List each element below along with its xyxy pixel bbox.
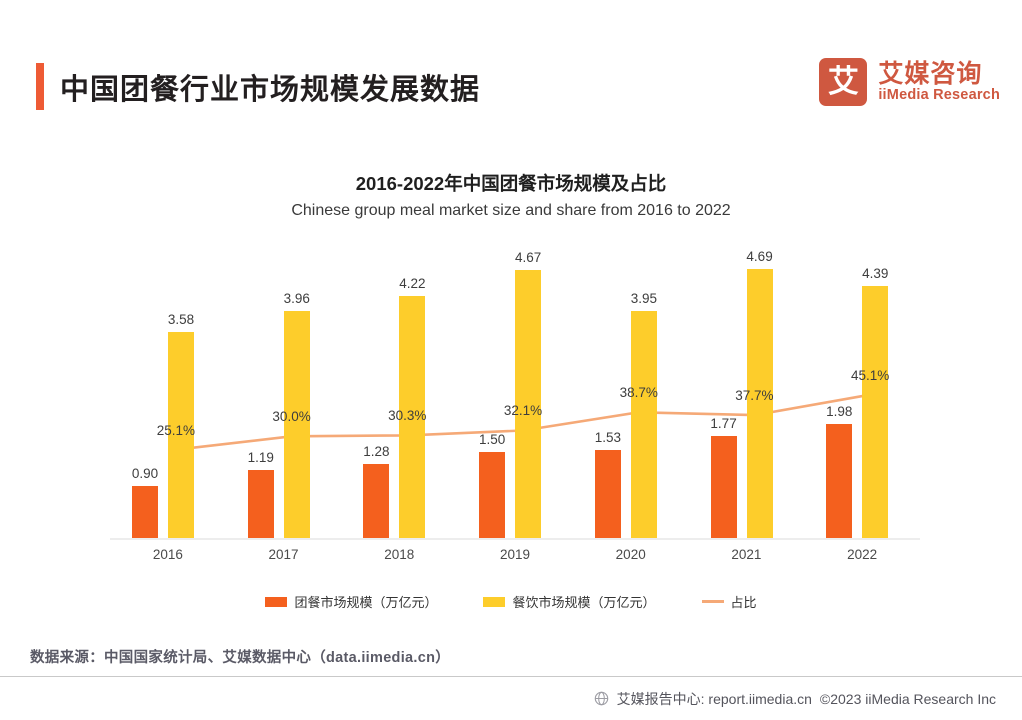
x-axis-tick-label: 2019 <box>457 547 573 562</box>
bar-value-label: 3.95 <box>631 291 657 306</box>
brand-name-en: iiMedia Research <box>878 88 1000 104</box>
bar-value-label: 1.19 <box>248 450 274 465</box>
legend-line-share <box>702 600 724 603</box>
share-value-label: 37.7% <box>735 388 773 403</box>
bar-value-label: 1.28 <box>363 444 389 459</box>
footer-bar: 艾媒报告中心: report.iimedia.cn ©2023 iiMedia … <box>0 677 1022 720</box>
brand-mark-icon: 艾 <box>819 58 867 106</box>
chart-title: 2016-2022年中国团餐市场规模及占比 <box>0 170 1022 196</box>
chart-subtitle: Chinese group meal market size and share… <box>0 202 1022 220</box>
bar-group-meal[interactable] <box>479 452 505 538</box>
brand-name-cn: 艾媒咨询 <box>878 61 1000 88</box>
bar-value-label: 0.90 <box>132 466 158 481</box>
legend-item-catering[interactable]: 餐饮市场规模（万亿元） <box>483 592 655 611</box>
bar-group: 1.504.672019 <box>457 245 573 538</box>
bar-catering[interactable] <box>631 311 657 538</box>
bar-value-label: 4.39 <box>862 266 888 281</box>
bar-group-meal[interactable] <box>826 424 852 538</box>
bar-value-label: 1.98 <box>826 404 852 419</box>
bar-group-meal[interactable] <box>132 486 158 538</box>
bar-group-meal[interactable] <box>711 436 737 538</box>
chart-container: 2016-2022年中国团餐市场规模及占比 Chinese group meal… <box>0 140 1022 620</box>
bar-group: 0.903.582016 <box>110 245 226 538</box>
x-axis-tick-label: 2018 <box>341 547 457 562</box>
bar-value-label: 4.22 <box>399 276 425 291</box>
bar-group-meal[interactable] <box>363 464 389 538</box>
bar-group-meal[interactable] <box>595 450 621 538</box>
bar-value-label: 4.69 <box>746 249 772 264</box>
share-value-label: 25.1% <box>157 423 195 438</box>
bar-group: 1.284.222018 <box>341 245 457 538</box>
bar-value-label: 4.67 <box>515 250 541 265</box>
plot-area: 0.903.5820161.193.9620171.284.2220181.50… <box>110 245 920 540</box>
share-value-label: 30.0% <box>272 409 310 424</box>
title-accent-bar <box>36 63 44 110</box>
legend-label-share: 占比 <box>731 592 757 611</box>
legend-label-catering: 餐饮市场规模（万亿元） <box>512 592 655 611</box>
share-value-label: 38.7% <box>620 385 658 400</box>
share-value-label: 30.3% <box>388 408 426 423</box>
report-center-text[interactable]: 艾媒报告中心: report.iimedia.cn <box>617 689 812 709</box>
legend-swatch-yellow <box>483 597 505 607</box>
share-value-label: 32.1% <box>504 403 542 418</box>
bar-value-label: 3.58 <box>168 312 194 327</box>
bar-group: 1.193.962017 <box>226 245 342 538</box>
bar-value-label: 1.53 <box>595 430 621 445</box>
bar-group-meal[interactable] <box>248 470 274 538</box>
bar-group: 1.984.392022 <box>804 245 920 538</box>
legend-swatch-orange <box>265 597 287 607</box>
bar-catering[interactable] <box>747 269 773 538</box>
x-axis-tick-label: 2016 <box>110 547 226 562</box>
bar-value-label: 1.50 <box>479 432 505 447</box>
copyright-text: ©2023 iiMedia Research Inc <box>820 691 996 707</box>
page-header: 中国团餐行业市场规模发展数据 艾 艾媒咨询 iiMedia Research <box>0 0 1022 140</box>
data-source-text: 数据来源：中国国家统计局、艾媒数据中心（data.iimedia.cn） <box>30 646 450 667</box>
legend-item-share[interactable]: 占比 <box>702 592 757 611</box>
x-axis-tick-label: 2020 <box>573 547 689 562</box>
legend-item-group-meal[interactable]: 团餐市场规模（万亿元） <box>265 592 437 611</box>
brand-logo: 艾 艾媒咨询 iiMedia Research <box>819 58 1000 106</box>
globe-icon <box>594 691 609 706</box>
share-value-label: 45.1% <box>851 368 889 383</box>
bar-catering[interactable] <box>284 311 310 539</box>
bar-catering[interactable] <box>862 286 888 538</box>
bar-value-label: 3.96 <box>284 291 310 306</box>
page-title: 中国团餐行业市场规模发展数据 <box>60 66 480 108</box>
x-axis-tick-label: 2022 <box>804 547 920 562</box>
legend-label-group-meal: 团餐市场规模（万亿元） <box>294 592 437 611</box>
bar-value-label: 1.77 <box>710 416 736 431</box>
chart-legend: 团餐市场规模（万亿元） 餐饮市场规模（万亿元） 占比 <box>0 592 1022 611</box>
x-axis-tick-label: 2021 <box>689 547 805 562</box>
x-axis-tick-label: 2017 <box>226 547 342 562</box>
brand-text: 艾媒咨询 iiMedia Research <box>878 61 1000 104</box>
